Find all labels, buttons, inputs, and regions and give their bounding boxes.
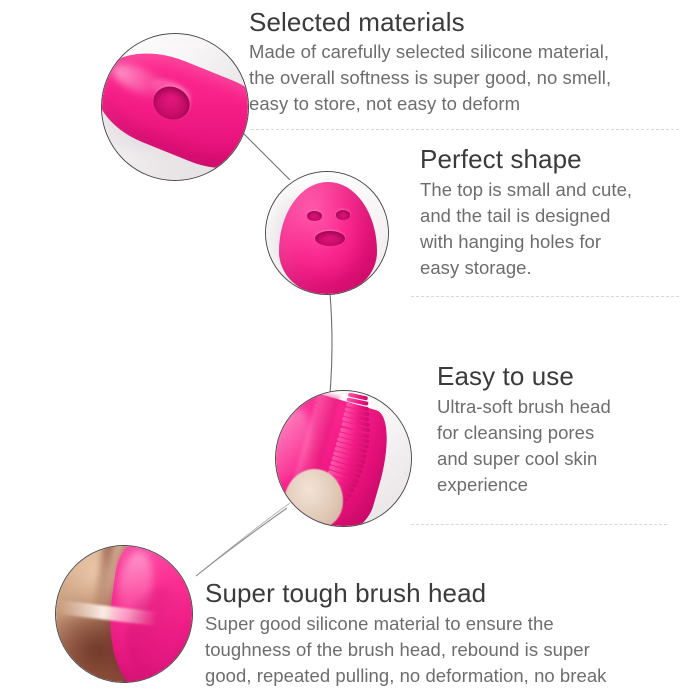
feature-body-line: and the tail is designed [420, 205, 610, 226]
feature-separator-2 [411, 296, 679, 297]
feature-body: The top is small and cute, and the tail … [420, 177, 682, 281]
connector-3-4 [196, 508, 287, 576]
face-eye-left [307, 211, 322, 221]
feature-body-line: easy to store, not easy to deform [249, 93, 520, 114]
feature-text-perfect-shape: Perfect shape The top is small and cute,… [420, 144, 682, 281]
feature-heading: Selected materials [249, 7, 681, 37]
face-eye-right [336, 210, 351, 220]
feature-body-line: The top is small and cute, [420, 179, 632, 200]
feature-body-line: experience [437, 474, 528, 495]
photo-inner [266, 172, 388, 294]
feature-body: Super good silicone material to ensure t… [205, 611, 687, 689]
photo-inner [276, 391, 411, 526]
photo-inner [56, 546, 192, 682]
feature-body: Ultra-soft brush head for cleansing pore… [437, 394, 681, 498]
photo-inner [102, 34, 248, 180]
feature-image-easy-to-use [275, 390, 412, 527]
feature-body-line: with hanging holes for [420, 231, 601, 252]
feature-text-easy-to-use: Easy to use Ultra-soft brush head for cl… [437, 361, 681, 498]
feature-text-selected-materials: Selected materials Made of carefully sel… [249, 7, 681, 117]
feature-separator-1 [251, 129, 679, 130]
feature-body: Made of carefully selected silicone mate… [249, 39, 681, 117]
feature-body-line: Super good silicone material to ensure t… [205, 613, 554, 634]
feature-separator-3 [411, 524, 667, 525]
feature-body-line: for cleansing pores [437, 422, 594, 443]
finger-skin [284, 469, 343, 526]
feature-image-selected-materials [101, 33, 249, 181]
feature-image-perfect-shape [265, 171, 389, 295]
feature-text-super-tough-brush-head: Super tough brush head Super good silico… [205, 578, 687, 689]
feature-body-line: toughness of the brush head, rebound is … [205, 639, 590, 660]
feature-heading: Perfect shape [420, 144, 682, 175]
feature-heading: Easy to use [437, 361, 681, 392]
feature-body-line: Ultra-soft brush head [437, 396, 611, 417]
feature-body-line: and super cool skin [437, 448, 597, 469]
infographic-canvas: Selected materials Made of carefully sel… [0, 0, 700, 700]
feature-body-line: the overall softness is super good, no s… [249, 67, 611, 88]
feature-image-super-tough-brush-head [55, 545, 193, 683]
feature-body-line: easy storage. [420, 257, 532, 278]
feature-body-line: good, repeated pulling, no deformation, … [205, 665, 606, 686]
feature-body-line: Made of carefully selected silicone mate… [249, 41, 609, 62]
connector-2-3 [330, 293, 332, 393]
feature-heading: Super tough brush head [205, 578, 687, 609]
